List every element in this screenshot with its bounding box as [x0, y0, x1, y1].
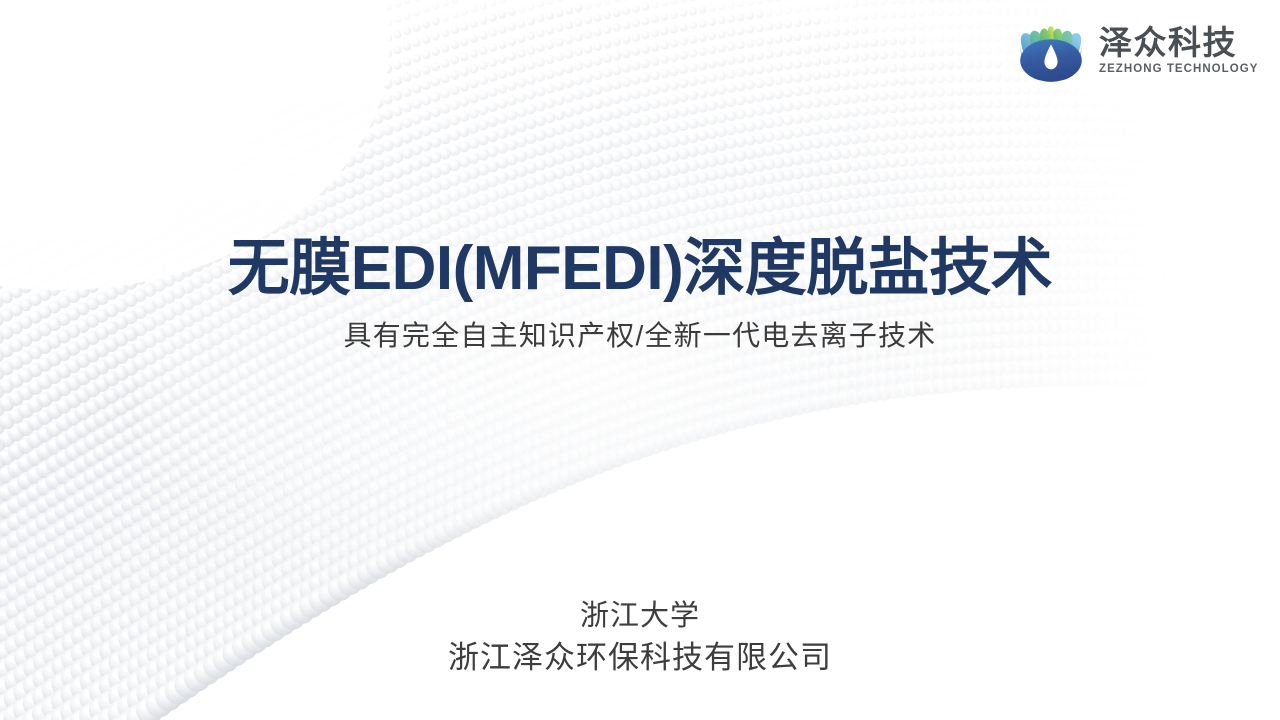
- title-slide: 泽众科技 ZEZHONG TECHNOLOGY 无膜EDI(MFEDI)深度脱盐…: [0, 0, 1280, 720]
- slide-main-title: 无膜EDI(MFEDI)深度脱盐技术: [0, 236, 1280, 301]
- background-fade-topleft: [0, 0, 330, 240]
- brand-name-cn: 泽众科技: [1099, 26, 1258, 59]
- zezhong-lotus-droplet-icon: [1014, 18, 1088, 84]
- organization-block: 浙江大学 浙江泽众环保科技有限公司: [0, 598, 1280, 678]
- brand-logo-text: 泽众科技 ZEZHONG TECHNOLOGY: [1099, 26, 1258, 76]
- title-block: 无膜EDI(MFEDI)深度脱盐技术 具有完全自主知识产权/全新一代电去离子技术: [0, 236, 1280, 353]
- organization-university: 浙江大学: [0, 598, 1280, 635]
- brand-name-en: ZEZHONG TECHNOLOGY: [1099, 64, 1258, 76]
- slide-subtitle: 具有完全自主知识产权/全新一代电去离子技术: [0, 319, 1280, 353]
- organization-company: 浙江泽众环保科技有限公司: [0, 638, 1280, 678]
- brand-logo: 泽众科技 ZEZHONG TECHNOLOGY: [1014, 18, 1258, 84]
